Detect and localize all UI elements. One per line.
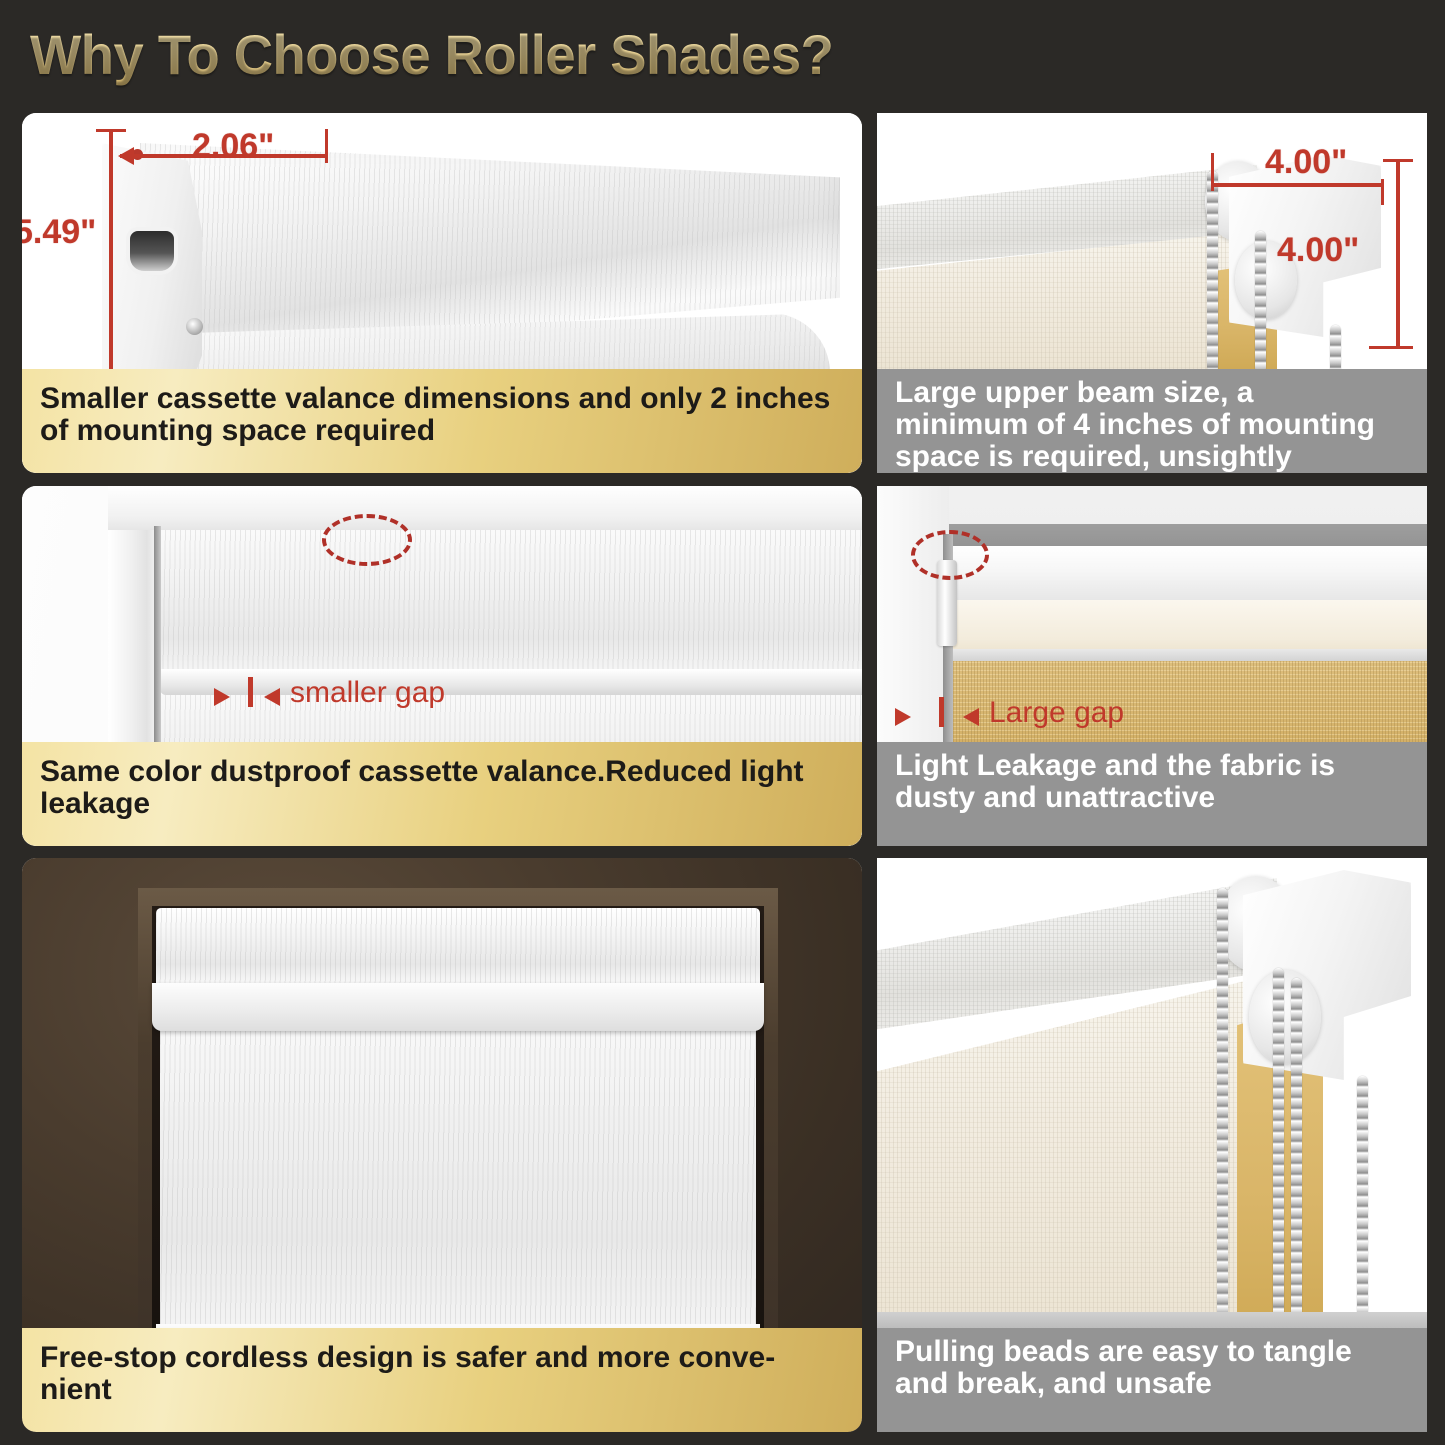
gap-callout-label: Large gap <box>989 696 1124 730</box>
caption-light-leakage-dusty-fabric: Light Leakage and the fabric is dusty an… <box>877 742 1427 846</box>
beam-height-tick-bottom <box>1369 346 1413 349</box>
gap-highlight-ellipse <box>911 530 989 580</box>
page-title: Why To Choose Roller Shades? <box>30 22 1097 92</box>
height-dimension-tick-top <box>96 129 126 132</box>
beam-edge <box>953 649 1427 661</box>
panel-free-stop-cordless-design: Free-stop cordless design is safer and m… <box>22 858 862 1432</box>
panel-light-leakage-dusty-fabric: Large gap Light Leakage and the fabric i… <box>877 486 1427 846</box>
beam-height-dimension-line <box>1396 159 1400 349</box>
caption-large-upper-beam: Large upper beam size, a minimum of 4 in… <box>877 369 1427 473</box>
roller-tube-white <box>953 546 1427 608</box>
caption-pulling-beads-unsafe: Pulling beads are easy to tangle and bre… <box>877 1328 1427 1432</box>
bead-chain-right <box>1357 1076 1368 1340</box>
beam-width-tick-left <box>1211 153 1214 191</box>
upper-shade-panel <box>160 526 862 676</box>
panel-large-upper-beam: 4.00" 4.00" Large upper beam size, a min… <box>877 113 1427 473</box>
gap-arrow-left <box>214 688 230 706</box>
bead-chain-left <box>1217 888 1228 1340</box>
beam-width-tick-right <box>1381 179 1384 205</box>
window-frame-top <box>108 486 862 530</box>
bead-chain-middle-b <box>1291 978 1302 1340</box>
caption-cassette-valance-dimensions: Smaller cassette valance dimensions and … <box>22 369 862 473</box>
beam-height-label: 4.00" <box>1277 231 1359 270</box>
screw-upper <box>186 318 203 335</box>
gap-callout-label: smaller gap <box>290 676 445 710</box>
bead-chain-left <box>1207 171 1218 373</box>
width-dimension-tick-right <box>325 129 328 163</box>
width-dimension-label: 2.06" <box>192 127 274 166</box>
panel-cassette-valance-dimensions: 2.06" 5.49" Smaller cassette valance dim… <box>22 113 862 473</box>
bracket-slot <box>130 231 174 271</box>
infographic-page: Why To Choose Roller Shades? 2.06" 5.49"… <box>0 0 1445 1445</box>
cassette-valance <box>156 908 760 986</box>
panel-dustproof-cassette-valance: smaller gap Same color dustproof cassett… <box>22 486 862 846</box>
shade-fabric <box>160 1030 756 1330</box>
floor-shadow <box>877 1312 1427 1328</box>
beam-width-dimension-line <box>1213 183 1383 187</box>
caption-dustproof-cassette-valance: Same color dustproof cassette valance.Re… <box>22 742 862 846</box>
valance-lip <box>152 983 764 1031</box>
gap-highlight-ellipse <box>322 514 412 566</box>
width-dimension-arrow-left <box>118 147 134 165</box>
bead-chain-middle <box>1255 231 1266 373</box>
gap-arrow-right <box>264 688 280 706</box>
bracket-lower-disc <box>1249 970 1321 1064</box>
caption-free-stop-cordless-design: Free-stop cordless design is safer and m… <box>22 1328 862 1432</box>
panel-pulling-beads-unsafe: Pulling beads are easy to tangle and bre… <box>877 858 1427 1432</box>
bead-chain-middle-a <box>1273 968 1284 1340</box>
beam-width-label: 4.00" <box>1265 143 1347 182</box>
upper-beam <box>953 600 1427 656</box>
gap-arrow-right <box>963 708 979 726</box>
bead-chain-right <box>1330 325 1341 373</box>
beam-height-tick-top <box>1383 159 1413 162</box>
gap-tick <box>248 677 253 707</box>
gap-tick <box>939 697 944 727</box>
height-dimension-label: 5.49" <box>22 213 96 252</box>
gap-arrow-left <box>895 708 911 726</box>
